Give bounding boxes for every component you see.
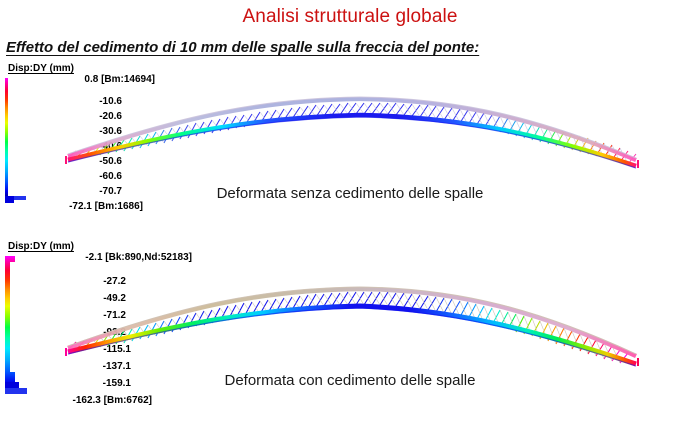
truss-web-members: [68, 103, 636, 164]
lower-chord-deformed: [68, 115, 636, 166]
bridge-deformation-render-1: [60, 72, 660, 190]
page-title: Analisi strutturale globale: [0, 6, 700, 28]
bridge-deformation-render-2: [60, 258, 660, 376]
legend-title: Disp:DY (mm): [8, 241, 74, 252]
scale-min-label: -162.3 [Bm:6762]: [0, 395, 152, 406]
plot-caption-2: Deformata con cedimento delle spalle: [0, 372, 700, 389]
truss-web-members: [68, 292, 628, 363]
scale-min-label: -72.1 [Bm:1686]: [0, 201, 143, 212]
plot-caption-1: Deformata senza cedimento delle spalle: [0, 185, 700, 202]
deformation-plot-no-settlement: Disp:DY (mm) 0.8 [Bm:14694] -10.6 -20.6 …: [0, 60, 700, 238]
lower-chord-outline: [68, 117, 636, 168]
page-subtitle: Effetto del cedimento di 10 mm delle spa…: [6, 39, 566, 56]
deformation-plot-with-settlement: Disp:DY (mm) -2.1 [Bk:890,Nd:52183] -27.…: [0, 238, 700, 425]
